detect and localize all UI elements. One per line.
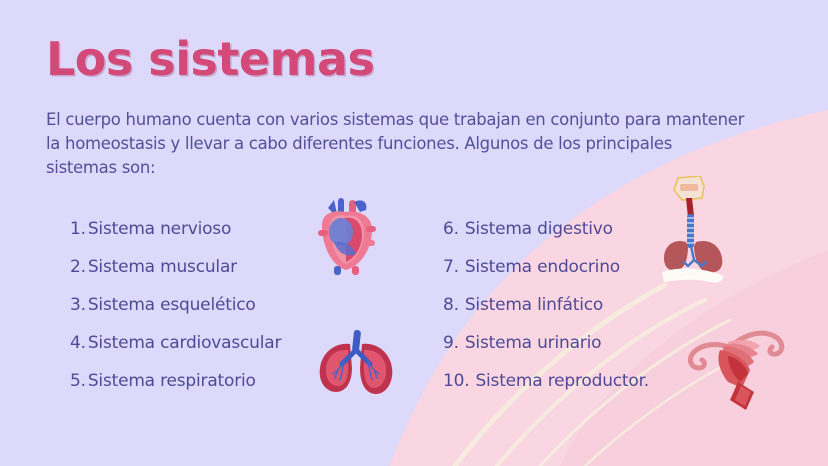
page-title: Los sistemas <box>46 32 374 86</box>
list-item: 7.Sistema endocrino <box>443 248 649 286</box>
list-item: 2.Sistema muscular <box>70 248 281 286</box>
list-item: 1.Sistema nervioso <box>70 210 281 248</box>
lungs-illustration <box>314 328 398 400</box>
list-item-label: Sistema digestivo <box>465 219 613 239</box>
list-item-label: Sistema linfático <box>465 295 603 315</box>
intro-paragraph: El cuerpo humano cuenta con varios siste… <box>46 108 746 180</box>
heart-illustration <box>308 196 384 278</box>
list-item-number: 7. <box>443 257 459 277</box>
list-item: 8.Sistema linfático <box>443 286 649 324</box>
list-item-number: 8. <box>443 295 459 315</box>
respiratory-system-illustration <box>660 176 764 286</box>
list-item-label: Sistema cardiovascular <box>88 333 281 353</box>
systems-list-left: 1.Sistema nervioso 2.Sistema muscular 3.… <box>70 210 281 400</box>
systems-list-right: 6.Sistema digestivo 7.Sistema endocrino … <box>443 210 649 400</box>
list-item: 4.Sistema cardiovascular <box>70 324 281 362</box>
list-item-number: 4. <box>70 333 86 353</box>
list-item: 6.Sistema digestivo <box>443 210 649 248</box>
list-item: 5.Sistema respiratorio <box>70 362 281 400</box>
list-item-number: 9. <box>443 333 459 353</box>
slide-canvas: Los sistemas El cuerpo humano cuenta con… <box>0 0 828 466</box>
list-item-label: Sistema respiratorio <box>88 371 256 391</box>
list-item-number: 5. <box>70 371 86 391</box>
list-item-label: Sistema urinario <box>465 333 601 353</box>
list-item-label: Sistema reproductor. <box>475 371 649 391</box>
uterus-illustration <box>684 326 794 414</box>
list-item-number: 10. <box>443 371 469 391</box>
list-item-number: 6. <box>443 219 459 239</box>
list-item-label: Sistema endocrino <box>465 257 620 277</box>
list-item-number: 3. <box>70 295 86 315</box>
list-item-label: Sistema esquelético <box>88 295 256 315</box>
list-item: 10.Sistema reproductor. <box>443 362 649 400</box>
list-item-number: 2. <box>70 257 86 277</box>
list-item: 3.Sistema esquelético <box>70 286 281 324</box>
list-item-label: Sistema muscular <box>88 257 237 277</box>
list-item-number: 1. <box>70 219 86 239</box>
list-item: 9.Sistema urinario <box>443 324 649 362</box>
list-item-label: Sistema nervioso <box>88 219 231 239</box>
